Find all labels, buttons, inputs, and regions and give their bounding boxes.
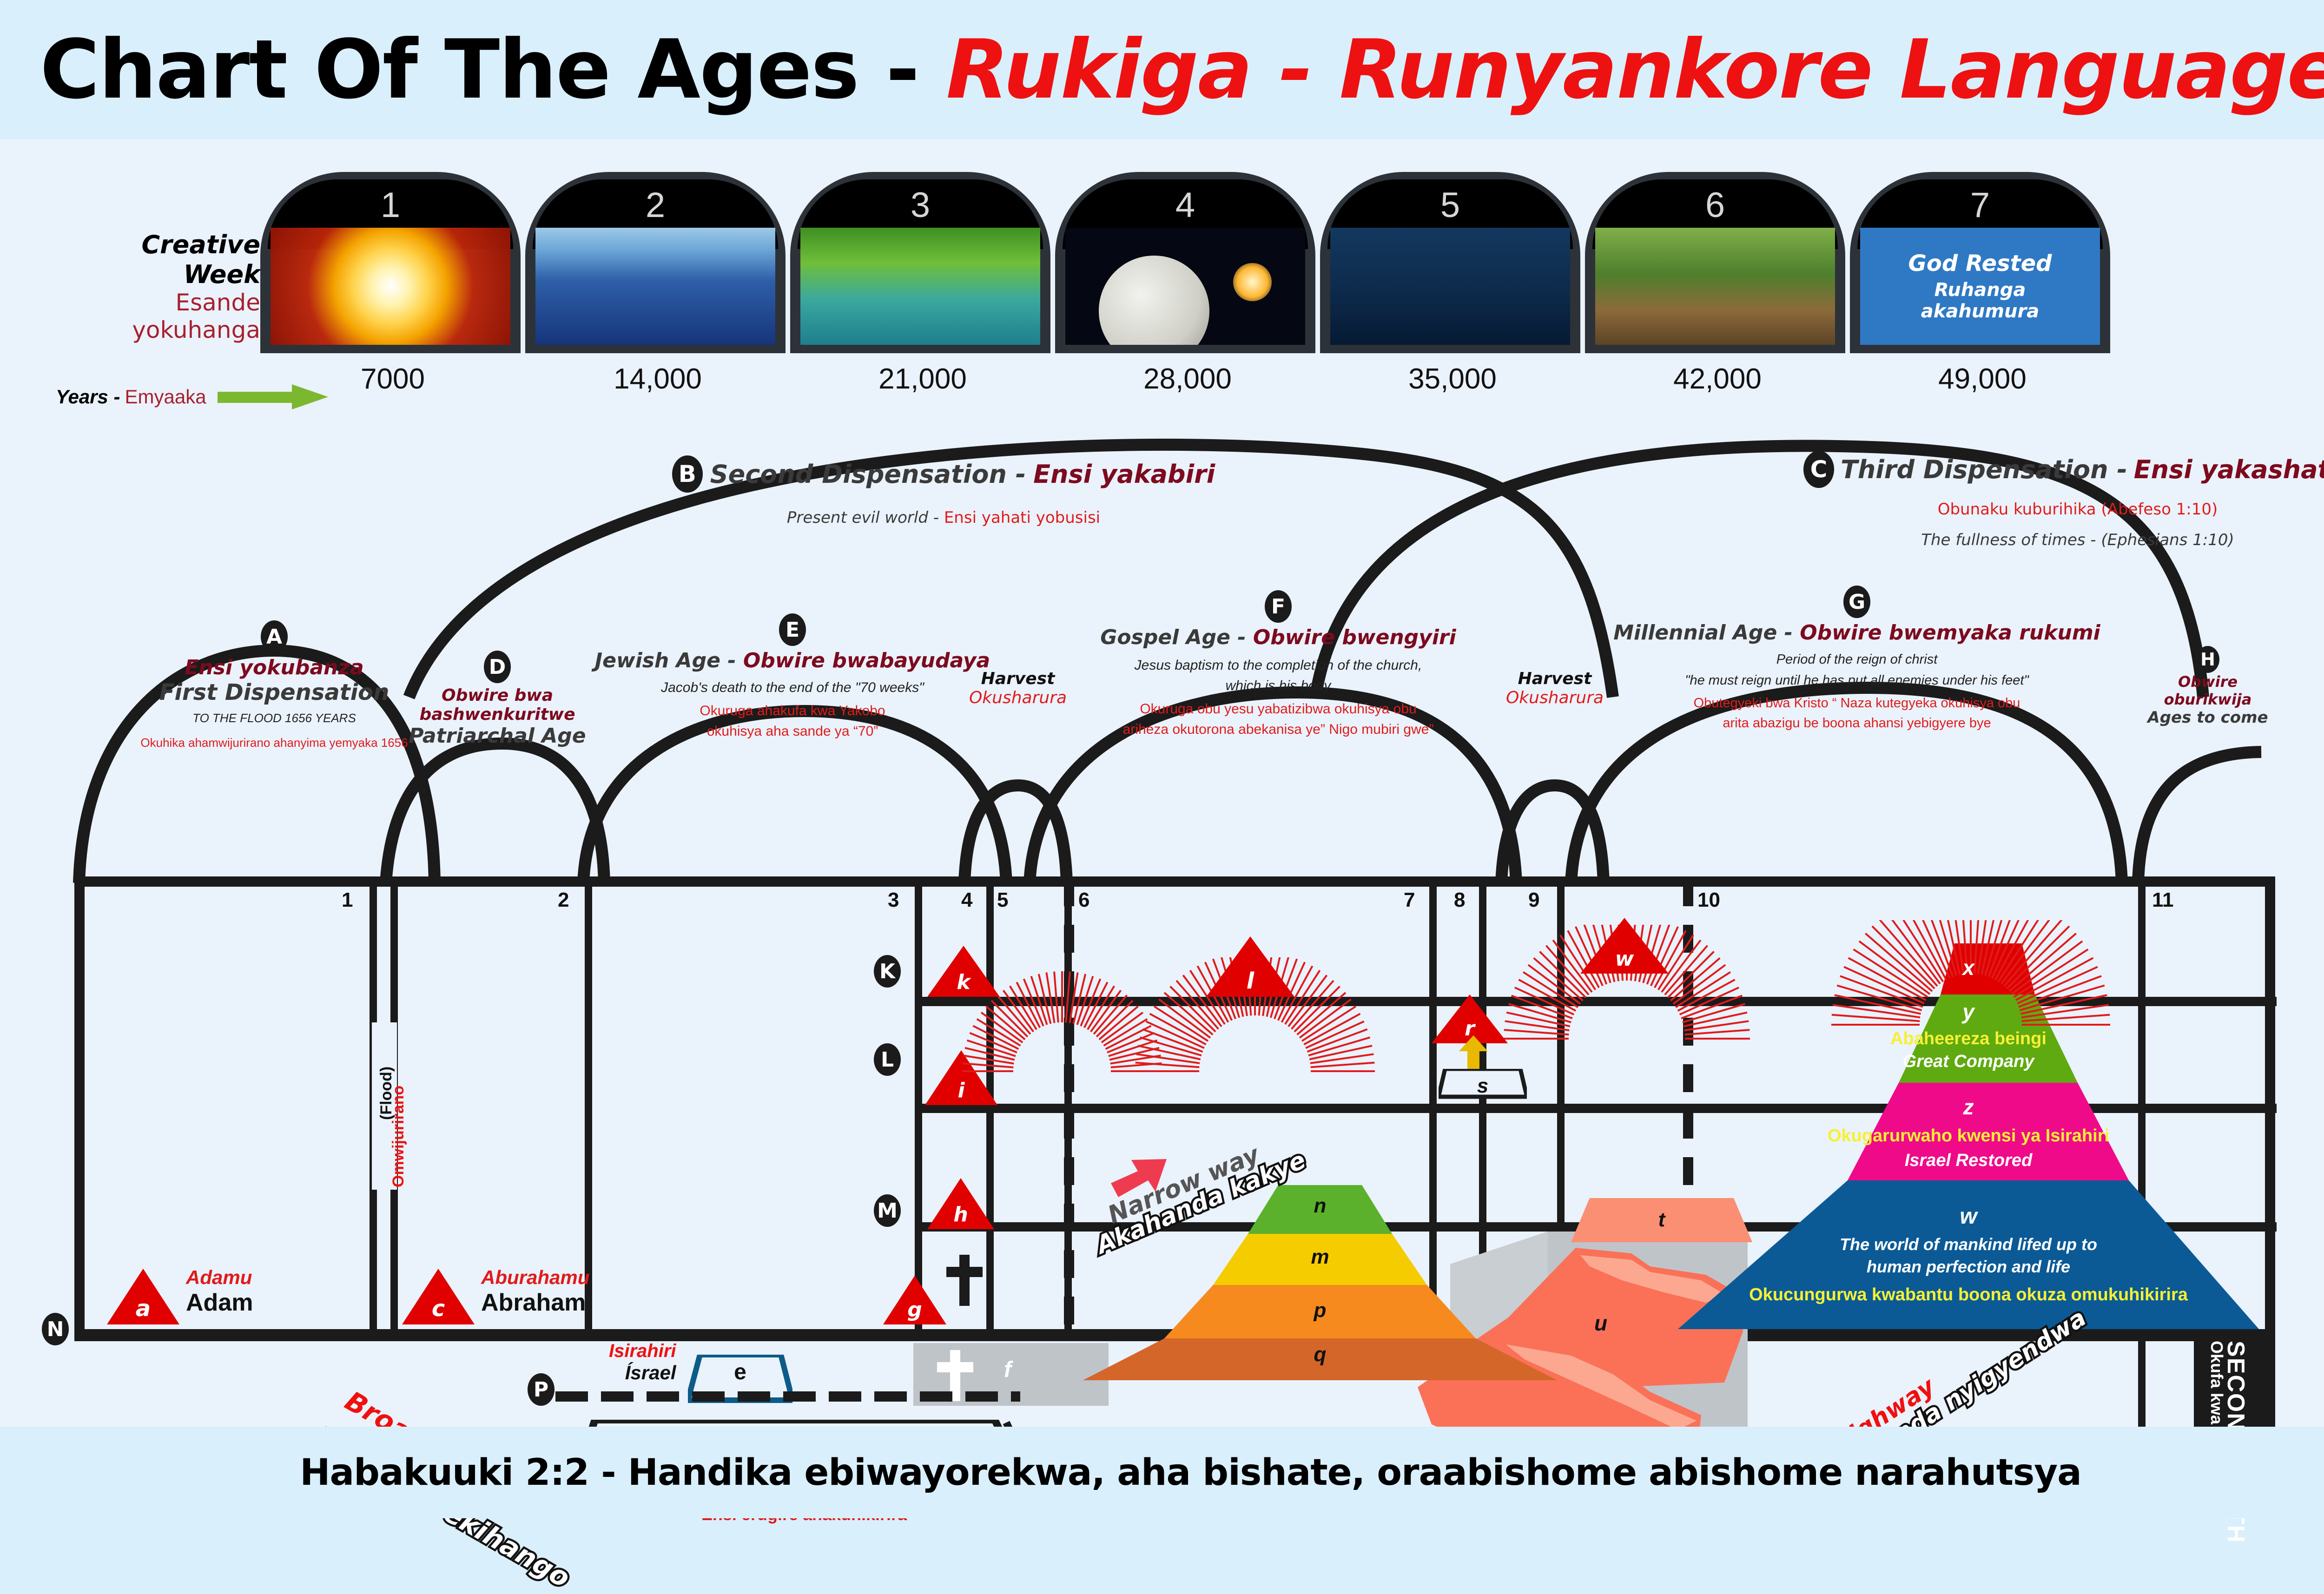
marker-e-label: e xyxy=(688,1359,792,1385)
pyramid-band-w: w The world of mankind lifed up to human… xyxy=(1678,1204,2259,1305)
footer-verse: Habakuuki 2:2 - Handika ebiwayorekwa, ah… xyxy=(0,1427,2324,1518)
marker-s-label: s xyxy=(1439,1074,1527,1098)
chart-root: Chart Of The Ages - Rukiga - Runyankore … xyxy=(0,0,2324,1518)
column-number: 8 xyxy=(1454,889,1465,912)
pyramid-band-p: p xyxy=(1083,1299,1557,1322)
column-number: 3 xyxy=(888,889,899,912)
row-badge-k: K xyxy=(874,955,901,988)
pyramid-band-y: y Abaheereza beingi Great Company xyxy=(1678,999,2259,1072)
marker-l: l xyxy=(1206,936,1294,997)
column-number: 7 xyxy=(1404,889,1415,912)
page-title: Chart Of The Ages - Rukiga - Runyankore … xyxy=(0,0,2324,139)
column-number: 6 xyxy=(1078,889,1089,912)
p-dashed-line xyxy=(555,1390,1020,1403)
flood-label-en: (Flood) xyxy=(377,1067,396,1120)
marker-w-sun: w xyxy=(1580,918,1669,974)
marker-k: k xyxy=(927,946,1000,997)
footer-text: Habakuuki 2:2 - Handika ebiwayorekwa, ah… xyxy=(300,1452,2081,1494)
marker-f-label: f xyxy=(1004,1357,1011,1383)
pyramid-band-x: x xyxy=(1678,955,2259,980)
marker-c-labels: Aburahamu Abraham xyxy=(481,1266,589,1317)
column-number: 5 xyxy=(997,889,1008,912)
cross-icon xyxy=(944,1255,985,1306)
pyramid-band-m: m xyxy=(1083,1245,1557,1269)
marker-c: c xyxy=(402,1269,475,1324)
marker-h: h xyxy=(927,1178,994,1229)
column-number: 1 xyxy=(342,889,353,912)
marker-a-labels: Adamu Adam xyxy=(186,1266,253,1317)
israel-label: Isirahiri Ísrael xyxy=(609,1341,676,1384)
chart-body: Creative Week Esande yokuhanga Years - E… xyxy=(0,139,2324,1427)
column-number: 9 xyxy=(1528,889,1539,912)
column-number: 10 xyxy=(1697,889,1720,912)
row-badge-m: M xyxy=(874,1194,901,1227)
row-badge-n: N xyxy=(42,1313,69,1345)
row-badge-l: L xyxy=(874,1043,901,1076)
marker-a: a xyxy=(107,1269,179,1324)
title-black: Chart Of The Ages - xyxy=(40,23,946,117)
title-red: Rukiga - Runyankore Language xyxy=(946,23,2324,117)
column-number: 11 xyxy=(2152,889,2174,912)
up-arrow-icon xyxy=(1457,1035,1490,1073)
column-number: 2 xyxy=(558,889,569,912)
row-badge-p: P xyxy=(528,1373,555,1406)
second-death-top-rail xyxy=(2138,1329,2275,1341)
column-number: 4 xyxy=(961,889,972,912)
marker-g: g xyxy=(883,1276,946,1324)
pyramid-band-z: z Okugarurwaho kwensi ya Isirahiri Israe… xyxy=(1678,1094,2259,1171)
pyramid-band-q: q xyxy=(1083,1343,1557,1366)
